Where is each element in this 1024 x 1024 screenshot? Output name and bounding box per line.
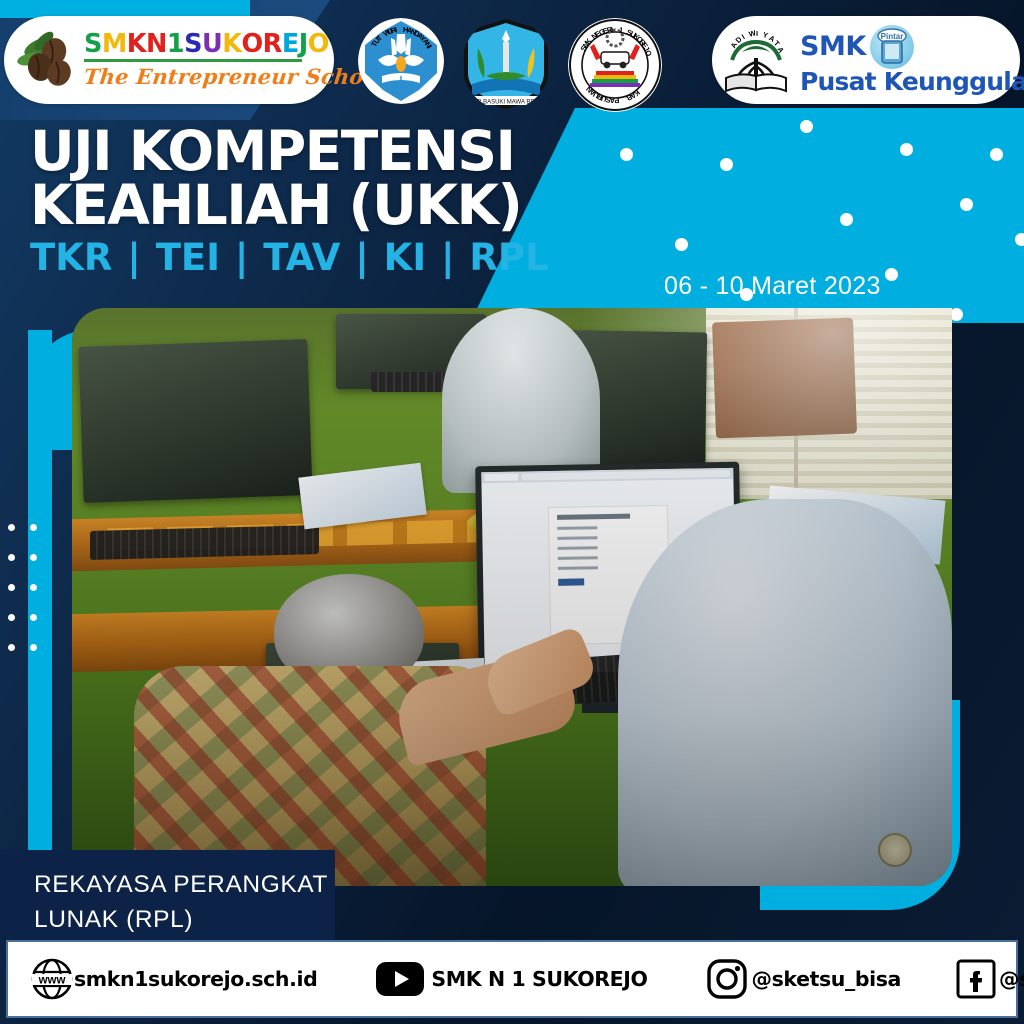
smk-pusat-keunggulan-wordmark: SMK Pintar Pusat Keunggulan	[800, 25, 1024, 95]
title-line-1: UJI KOMPETENSI	[30, 124, 549, 178]
youtube-icon	[375, 961, 425, 997]
caption-line-2: LUNAK (RPL)	[34, 903, 335, 938]
smkn-sukorejo-seal: SMK NEGERI 1 SUKOREJOKAB. PASURUAN	[568, 18, 662, 112]
event-photo	[72, 308, 952, 886]
photo-form-submit	[557, 579, 583, 586]
pusat-keunggulan-label: Pusat Keunggulan	[800, 69, 1024, 95]
school-tagline: The Entrepreneur School	[83, 64, 388, 89]
photo-monitor-left	[78, 339, 312, 503]
caption-line-1: REKAYASA PERANGKAT	[34, 868, 335, 903]
photo-form-title	[556, 514, 630, 520]
photo-student-badge	[878, 833, 912, 867]
footer-contact-bar: www smkn1sukorejo.sch.id SMK N 1 SUKOREJ…	[6, 940, 1018, 1018]
photo-form-field	[557, 527, 597, 531]
photo-browser-urlbar	[521, 470, 730, 481]
school-name-text: SMKN 1 SUKOREJO	[84, 32, 386, 58]
photo-student-hijab	[618, 499, 952, 886]
photo-scene	[72, 308, 952, 886]
photo-keyboard-left	[90, 525, 319, 560]
poster-canvas: SMKN 1 SUKOREJO The Entrepreneur School …	[0, 0, 1024, 1024]
partner-logos-pill: ADIWIYATA SMK Pintar Pusat Keunggulan	[712, 16, 1020, 104]
title-line-2: KEAHLIAH (UKK)	[30, 178, 549, 232]
footer-youtube-label: SMK N 1 SUKOREJO	[431, 967, 647, 991]
header-logo-bar: SMKN 1 SUKOREJO The Entrepreneur School …	[0, 10, 1024, 110]
photo-form-field	[557, 537, 597, 541]
jawa-timur-emblem: JER BASUKI MAWA BEYA	[462, 18, 550, 110]
pintar-badge-icon: Pintar	[870, 25, 914, 69]
instagram-icon	[706, 958, 748, 1000]
photo-form-field	[557, 567, 597, 571]
adiwiyata-logo: ADIWIYATA	[718, 22, 794, 98]
svg-text:JER BASUKI MAWA BEYA: JER BASUKI MAWA BEYA	[470, 100, 542, 106]
title-block: UJI KOMPETENSI KEAHLIAH (UKK) TKR | TEI …	[30, 124, 549, 279]
photo-browser-tab	[484, 474, 518, 482]
adiwiyata-ring-text: ADIWIYATA	[718, 22, 794, 98]
svg-text:www: www	[38, 975, 66, 987]
school-name-underline	[84, 59, 302, 62]
globe-www-icon: www	[30, 957, 74, 1001]
photo-browser-bar	[481, 468, 733, 483]
footer-youtube[interactable]: SMK N 1 SUKOREJO	[375, 942, 647, 1016]
smkn-seal-ring-text: SMK NEGERI 1 SUKOREJOKAB. PASURUAN	[568, 18, 662, 112]
footer-instagram-label: @sketsu_bisa	[752, 967, 901, 991]
svg-text:Pintar: Pintar	[880, 32, 903, 41]
footer-facebook[interactable]: @sketsu.bisa	[955, 942, 1024, 1016]
tut-wuri-ring-text: TUT WURI HANDAYANI	[358, 18, 444, 104]
subjects-list: TKR | TEI | TAV | KI | RPL	[30, 236, 549, 279]
photo-form-field	[557, 557, 597, 561]
event-date: 06 - 10 Maret 2023	[664, 272, 881, 301]
footer-instagram[interactable]: @sketsu_bisa	[706, 942, 901, 1016]
tut-wuri-handayani-logo: TUT WURI HANDAYANI	[358, 18, 444, 104]
footer-website-label: smkn1sukorejo.sch.id	[74, 967, 317, 991]
photo-form-field	[557, 547, 597, 551]
footer-website[interactable]: www smkn1sukorejo.sch.id	[30, 942, 317, 1016]
smk-label: SMK	[800, 33, 866, 61]
school-logo-pill: SMKN 1 SUKOREJO The Entrepreneur School	[4, 16, 334, 104]
school-wordmark: SMKN 1 SUKOREJO The Entrepreneur School	[84, 32, 386, 89]
coffee-beans-icon	[16, 29, 80, 91]
facebook-icon	[955, 958, 997, 1000]
footer-facebook-label: @sketsu.bisa	[999, 967, 1024, 991]
